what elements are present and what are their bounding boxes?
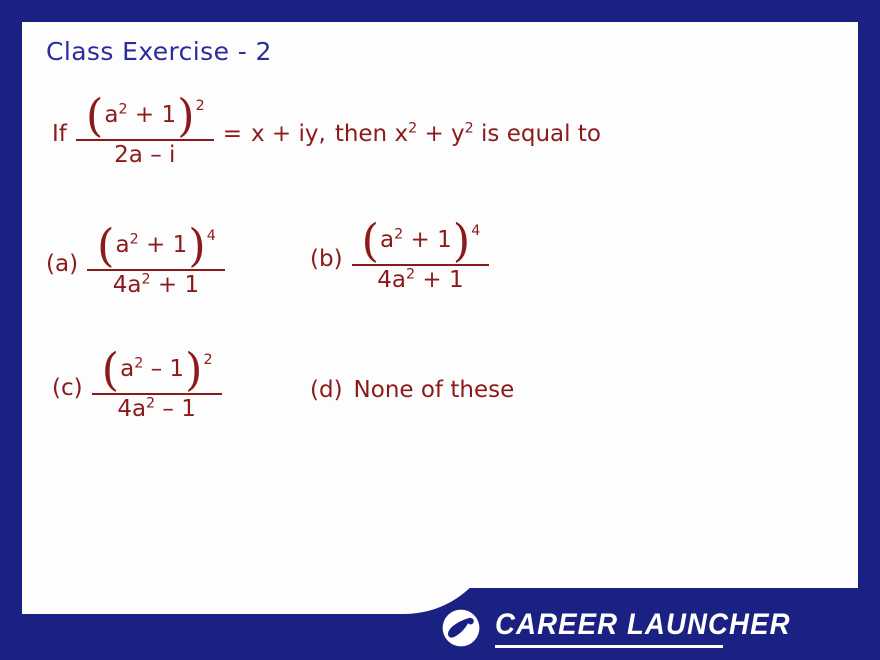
open-paren: ( [97,228,115,265]
numerator-operator-space [403,227,410,253]
option-b-denominator: 4a2 + 1 [367,266,473,292]
option-c-numerator: ( a2 – 1 ) 2 [92,354,222,393]
paren-power-group: ( a2 + 1 ) 4 [97,230,215,267]
denominator-exponent: 2 [142,271,151,287]
option-a[interactable]: (a) ( a2 + 1 ) 4 4a2 + 1 [46,230,225,297]
option-a-denominator: 4a2 + 1 [103,271,209,297]
denominator-prefix: 4a [377,267,406,293]
numerator-operator: + [135,102,154,128]
tail-exponent-1: 2 [408,120,417,136]
denominator-exponent: 2 [406,266,415,282]
numerator-operator: + [411,227,430,253]
close-paren: ) [188,228,206,265]
tail-suffix: is equal to [474,121,601,147]
numerator-operator-space [128,102,135,128]
close-paren: ) [453,223,471,260]
denominator-prefix: 4a [113,272,142,298]
question-lead-text: If [52,121,67,147]
numerator-power: 2 [196,99,205,114]
paren-power-group: ( a2 + 1 ) 2 [86,100,204,137]
denominator-exponent: 2 [146,395,155,411]
numerator-term: 1 [169,356,184,382]
question-fraction-denominator: 2a – i [104,141,185,167]
open-paren: ( [362,223,380,260]
brand-underline [495,645,723,648]
close-paren: ) [177,98,195,135]
option-b-label: (b) [310,246,343,272]
denominator-suffix: + 1 [151,272,200,298]
numerator-term: 1 [173,232,188,258]
numerator-operator-space [143,356,150,382]
numerator-base: a [104,102,118,128]
paren-power-group: ( a2 + 1 ) 4 [362,225,480,262]
question-fraction: ( a2 + 1 ) 2 2a – i [76,100,214,167]
option-b-numerator: ( a2 + 1 ) 4 [352,225,490,264]
paren-inner: a2 + 1 [115,233,189,257]
numerator-operator: + [146,232,165,258]
paren-inner: a2 – 1 [119,357,185,381]
numerator-power: 4 [207,229,216,244]
option-d-label: (d) [310,377,343,403]
option-c-label: (c) [52,375,83,401]
numerator-operator: – [151,356,163,382]
numerator-power: 2 [204,353,213,368]
open-paren: ( [86,98,104,135]
brand-name: CAREER LAUNCHER [495,608,791,642]
numerator-term: 1 [161,102,176,128]
close-paren: ) [185,352,203,389]
question-tail: then x2 + y2 is equal to [335,121,601,147]
slide-root: Class Exercise - 2 If ( a2 + 1 ) 2 2a – … [0,0,880,660]
paren-inner: a2 + 1 [379,228,453,252]
question-equals-sign: = [223,121,242,147]
tail-exponent-2: 2 [465,120,474,136]
numerator-base-exponent: 2 [134,356,143,372]
tail-prefix: then x [335,121,408,147]
brand-logo: CAREER LAUNCHER [441,608,816,648]
question-rhs: x + iy, [251,121,326,147]
numerator-base: a [380,227,394,253]
option-d[interactable]: (d) None of these [310,377,514,403]
denominator-suffix: – 1 [155,396,196,422]
option-c-denominator: 4a2 – 1 [107,395,206,421]
numerator-base: a [120,356,134,382]
question-stem: If ( a2 + 1 ) 2 2a – i = x + iy, [52,100,601,167]
option-d-text: None of these [354,377,515,403]
numerator-term: 1 [437,227,452,253]
paren-inner: a2 + 1 [103,103,177,127]
numerator-base-exponent: 2 [394,227,403,243]
footer-white-fill [22,518,404,614]
option-a-label: (a) [46,251,78,277]
option-c[interactable]: (c) ( a2 – 1 ) 2 4a2 – 1 [52,354,222,421]
numerator-base-exponent: 2 [119,102,128,118]
denominator-suffix: + 1 [415,267,464,293]
numerator-base-exponent: 2 [130,232,139,248]
career-launcher-swoosh-icon [441,608,481,648]
page-title: Class Exercise - 2 [46,37,272,66]
tail-middle: + y [417,121,465,147]
brand-text-block: CAREER LAUNCHER [495,608,816,648]
option-a-numerator: ( a2 + 1 ) 4 [87,230,225,269]
denominator-prefix: 4a [117,396,146,422]
option-a-fraction: ( a2 + 1 ) 4 4a2 + 1 [87,230,225,297]
question-fraction-numerator: ( a2 + 1 ) 2 [76,100,214,139]
numerator-base: a [116,232,130,258]
option-b-fraction: ( a2 + 1 ) 4 4a2 + 1 [352,225,490,292]
paren-power-group: ( a2 – 1 ) 2 [102,354,212,391]
option-b[interactable]: (b) ( a2 + 1 ) 4 4a2 + 1 [310,225,489,292]
numerator-term-space [165,232,172,258]
numerator-operator-space [139,232,146,258]
numerator-power: 4 [471,224,480,239]
open-paren: ( [102,352,120,389]
option-c-fraction: ( a2 – 1 ) 2 4a2 – 1 [92,354,222,421]
